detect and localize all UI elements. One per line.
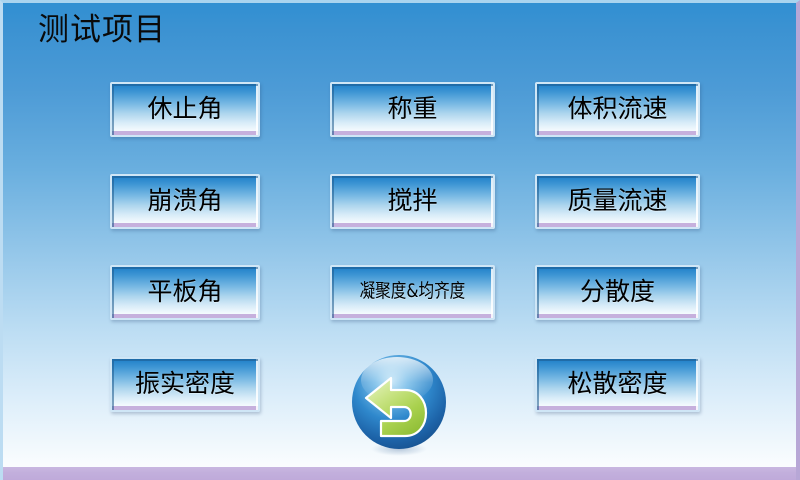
test-item-button[interactable]: 振实密度 <box>110 357 260 412</box>
test-item-button-label: 崩溃角 <box>147 188 222 213</box>
test-item-button[interactable]: 休止角 <box>110 82 260 137</box>
back-arrow-icon <box>347 352 451 456</box>
test-item-button[interactable]: 体积流速 <box>535 82 700 137</box>
test-item-button-label: 质量流速 <box>567 188 667 213</box>
test-item-button-label: 称重 <box>387 96 437 121</box>
test-item-button-label: 凝聚度&均齐度 <box>360 282 466 301</box>
back-button[interactable] <box>347 352 451 456</box>
test-item-button-label: 体积流速 <box>567 96 667 121</box>
test-item-button[interactable]: 平板角 <box>110 265 260 320</box>
bottom-status-bar <box>0 467 800 480</box>
test-item-button[interactable]: 凝聚度&均齐度 <box>330 265 495 320</box>
test-item-button-label: 休止角 <box>147 96 222 121</box>
test-item-button-label: 松散密度 <box>567 371 667 396</box>
test-item-button-label: 振实密度 <box>135 371 235 396</box>
test-item-button[interactable]: 称重 <box>330 82 495 137</box>
test-item-button[interactable]: 质量流速 <box>535 174 700 229</box>
test-item-button[interactable]: 分散度 <box>535 265 700 320</box>
test-item-button[interactable]: 崩溃角 <box>110 174 260 229</box>
test-item-button[interactable]: 搅拌 <box>330 174 495 229</box>
test-item-button-label: 分散度 <box>580 279 655 304</box>
test-item-button-label: 平板角 <box>147 279 222 304</box>
test-items-screen: 测试项目 休止角称重体积流速崩溃角搅拌质量流速平板角凝聚度&均齐度分散度振实密度… <box>0 0 800 480</box>
test-item-button-label: 搅拌 <box>387 188 437 213</box>
test-item-button[interactable]: 松散密度 <box>535 357 700 412</box>
